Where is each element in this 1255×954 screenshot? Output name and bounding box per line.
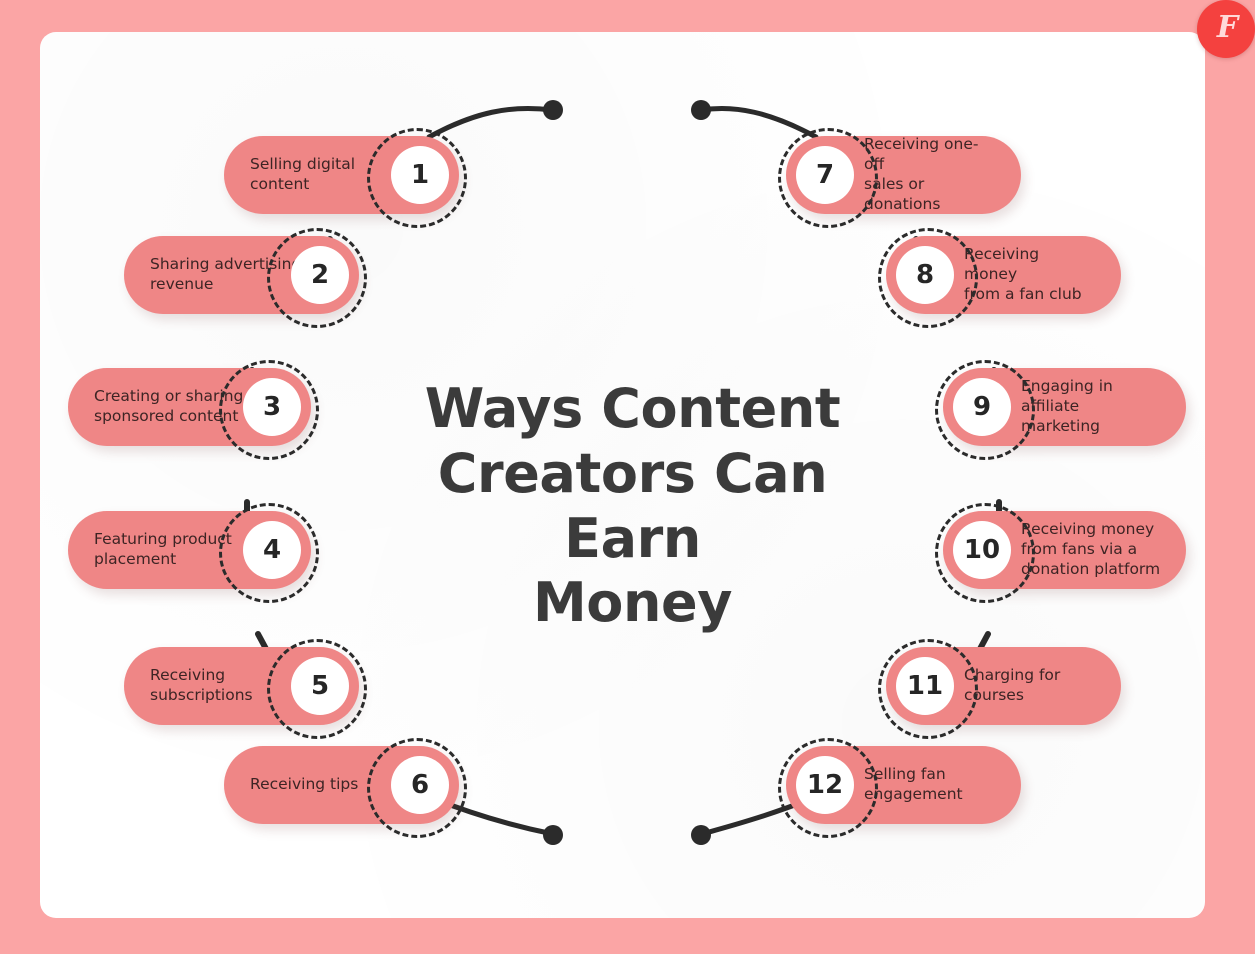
item-number-11: 11	[896, 657, 954, 715]
item-row-11: 11 Charging for courses	[886, 647, 1121, 725]
item-row-4: Featuring product placement 4	[68, 511, 311, 589]
item-number-5: 5	[291, 657, 349, 715]
item-number-9: 9	[953, 378, 1011, 436]
item-number-12: 12	[796, 756, 854, 814]
page-title-line-3: Money	[395, 571, 870, 636]
infographic-card: Selling digital content 1 Sharing advert…	[40, 32, 1205, 918]
item-label-11: Charging for courses	[964, 666, 1060, 706]
item-pill-7[interactable]: 7 Receiving one-off sales or donations	[786, 136, 1021, 214]
item-row-6: Receiving tips 6	[224, 746, 459, 824]
item-number-1: 1	[391, 146, 449, 204]
item-row-12: 12 Selling fan engagement	[786, 746, 1021, 824]
item-pill-8[interactable]: 8 Receiving money from a fan club	[886, 236, 1121, 314]
item-number-10: 10	[953, 521, 1011, 579]
item-pill-4[interactable]: Featuring product placement 4	[68, 511, 311, 589]
page-title: Ways Content Creators Can Earn Money	[395, 377, 870, 636]
item-label-12: Selling fan engagement	[864, 765, 963, 805]
item-pill-9[interactable]: 9 Engaging in affiliate marketing	[943, 368, 1186, 446]
item-row-1: Selling digital content 1	[224, 136, 459, 214]
item-pill-10[interactable]: 10 Receiving money from fans via a donat…	[943, 511, 1186, 589]
item-label-10: Receiving money from fans via a donation…	[1021, 520, 1160, 579]
item-pill-11[interactable]: 11 Charging for courses	[886, 647, 1121, 725]
item-row-3: Creating or sharing sponsored content 3	[68, 368, 311, 446]
item-row-8: 8 Receiving money from a fan club	[886, 236, 1121, 314]
item-number-3: 3	[243, 378, 301, 436]
item-pill-6[interactable]: Receiving tips 6	[224, 746, 459, 824]
item-number-6: 6	[391, 756, 449, 814]
item-row-5: Receiving subscriptions 5	[124, 647, 359, 725]
item-pill-2[interactable]: Sharing advertising revenue 2	[124, 236, 359, 314]
item-row-10: 10 Receiving money from fans via a donat…	[943, 511, 1186, 589]
item-label-3: Creating or sharing sponsored content	[94, 387, 243, 427]
item-label-9: Engaging in affiliate marketing	[1021, 377, 1162, 436]
item-pill-5[interactable]: Receiving subscriptions 5	[124, 647, 359, 725]
item-pill-12[interactable]: 12 Selling fan engagement	[786, 746, 1021, 824]
item-label-6: Receiving tips	[250, 775, 358, 795]
item-label-8: Receiving money from a fan club	[964, 245, 1097, 304]
item-number-7: 7	[796, 146, 854, 204]
item-number-8: 8	[896, 246, 954, 304]
item-row-9: 9 Engaging in affiliate marketing	[943, 368, 1186, 446]
item-number-2: 2	[291, 246, 349, 304]
page-title-line-1: Ways Content	[395, 377, 870, 442]
item-label-2: Sharing advertising revenue	[150, 255, 301, 295]
item-number-4: 4	[243, 521, 301, 579]
item-label-4: Featuring product placement	[94, 530, 232, 570]
item-label-7: Receiving one-off sales or donations	[864, 135, 997, 214]
item-row-2: Sharing advertising revenue 2	[124, 236, 359, 314]
brand-logo: F	[1197, 0, 1255, 58]
item-row-7: 7 Receiving one-off sales or donations	[786, 136, 1021, 214]
item-label-5: Receiving subscriptions	[150, 666, 253, 706]
item-pill-3[interactable]: Creating or sharing sponsored content 3	[68, 368, 311, 446]
item-label-1: Selling digital content	[250, 155, 355, 195]
page-title-line-2: Creators Can Earn	[395, 442, 870, 572]
letter-f-logo-icon: F	[1217, 13, 1237, 43]
item-pill-1[interactable]: Selling digital content 1	[224, 136, 459, 214]
